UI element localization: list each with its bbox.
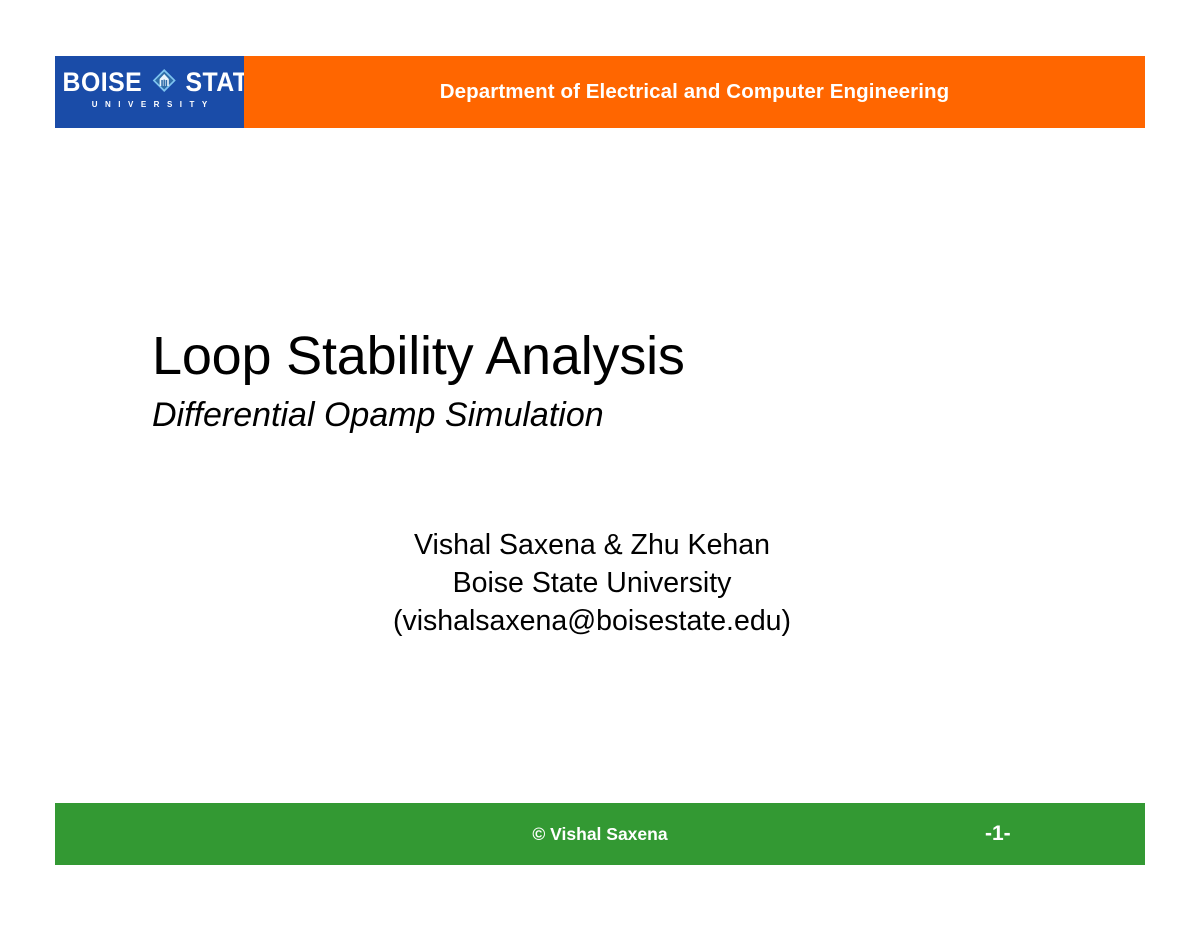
author-line-email: (vishalsaxena@boisestate.edu) [152, 602, 1032, 640]
page-number: -1- [985, 803, 1145, 865]
logo-subtitle: UNIVERSITY [55, 100, 244, 110]
logo-word-boise: BOISE [63, 68, 143, 96]
footer-copyright: © Vishal Saxena [55, 803, 1145, 865]
boise-state-logo: BOISE STATE UNIVERSITY [55, 56, 244, 128]
page-title: Loop Stability Analysis [152, 327, 685, 385]
page-subtitle: Differential Opamp Simulation [152, 396, 604, 434]
logo-word-state: STATE [185, 68, 244, 96]
department-title: Department of Electrical and Computer En… [244, 56, 1145, 128]
author-line-1: Vishal Saxena & Zhu Kehan [152, 526, 1032, 564]
logo-wordmark: BOISE STATE [63, 66, 237, 96]
presentation-slide: BOISE STATE UNIVERSITY Department of Ele… [0, 0, 1200, 927]
author-block: Vishal Saxena & Zhu Kehan Boise State Un… [152, 526, 1032, 640]
diamond-building-icon [151, 68, 176, 93]
author-line-affiliation: Boise State University [152, 564, 1032, 602]
